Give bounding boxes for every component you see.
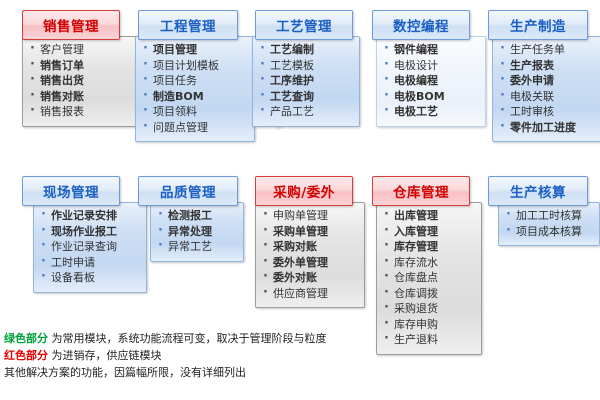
module-card-purchasing-outsourcing: 采购/委外申购单管理采购单管理采购对账委外单管理委外对账供应商管理 (255, 176, 353, 206)
card-body-engineering-management: 项目管理项目计划模板项目任务制造BOM项目领料问题点管理 (135, 36, 255, 142)
feature-item[interactable]: 委外对账 (260, 270, 360, 286)
card-header-production-accounting[interactable]: 生产核算 (488, 176, 588, 206)
card-header-quality-management[interactable]: 品质管理 (138, 176, 238, 206)
feature-item[interactable]: 委外申请 (497, 73, 597, 89)
feature-item[interactable]: 作业记录查询 (38, 239, 142, 255)
feature-list-purchasing-outsourcing: 申购单管理采购单管理采购对账委外单管理委外对账供应商管理 (260, 208, 360, 301)
feature-item[interactable]: 销售对账 (27, 89, 139, 105)
feature-item[interactable]: 异常工艺 (155, 239, 239, 255)
module-card-warehouse-management: 仓库管理出库管理入库管理库存管理库存流水仓库盘点仓库调拨采购退货库存申购生产退料 (372, 176, 470, 206)
card-header-warehouse-management[interactable]: 仓库管理 (372, 176, 470, 206)
feature-item[interactable]: 采购对账 (260, 239, 360, 255)
feature-item[interactable]: 工时申请 (38, 255, 142, 271)
legend-green-text: 为常用模块，系统功能流程可变，取决于管理阶段与粒度 (48, 332, 327, 345)
feature-item[interactable]: 设备看板 (38, 270, 142, 286)
feature-item[interactable]: 项目任务 (140, 73, 250, 89)
card-body-site-management: 作业记录安排现场作业报工作业记录查询工时申请设备看板 (33, 202, 147, 293)
feature-item[interactable]: 检测报工 (155, 208, 239, 224)
feature-item[interactable]: 销售出货 (27, 73, 139, 89)
feature-item[interactable]: 客户管理 (27, 42, 139, 58)
feature-item[interactable]: 仓库盘点 (381, 270, 477, 286)
feature-item[interactable]: 生产退料 (381, 332, 477, 348)
module-map-canvas: 易云软件传媒 销售管理客户管理销售订单销售出货销售对账销售报表工程管理项目管理项… (0, 0, 600, 400)
feature-item[interactable]: 工艺模板 (257, 58, 355, 74)
module-card-quality-management: 品质管理检测报工异常处理异常工艺 (138, 176, 238, 206)
feature-item[interactable]: 销售订单 (27, 58, 139, 74)
legend-green-tag: 绿色部分 (4, 332, 48, 345)
card-header-production-manufacturing[interactable]: 生产制造 (488, 10, 588, 40)
feature-item[interactable]: 加工工时核算 (503, 208, 595, 224)
feature-item[interactable]: 生产报表 (497, 58, 597, 74)
card-body-warehouse-management: 出库管理入库管理库存管理库存流水仓库盘点仓库调拨采购退货库存申购生产退料 (376, 202, 482, 355)
legend-red-tag: 红色部分 (4, 349, 48, 362)
feature-item[interactable]: 供应商管理 (260, 286, 360, 302)
feature-item[interactable]: 电极编程 (381, 73, 481, 89)
module-card-site-management: 现场管理作业记录安排现场作业报工作业记录查询工时申请设备看板 (22, 176, 120, 206)
feature-list-engineering-management: 项目管理项目计划模板项目任务制造BOM项目领料问题点管理 (140, 42, 250, 135)
feature-item[interactable]: 委外单管理 (260, 255, 360, 271)
feature-item[interactable]: 电极关联 (497, 89, 597, 105)
card-header-site-management[interactable]: 现场管理 (22, 176, 120, 206)
feature-item[interactable]: 仓库调拨 (381, 286, 477, 302)
feature-item[interactable]: 异常处理 (155, 224, 239, 240)
card-header-cnc-programming[interactable]: 数控编程 (372, 10, 470, 40)
feature-item[interactable]: 现场作业报工 (38, 224, 142, 240)
feature-item[interactable]: 电极BOM (381, 89, 481, 105)
legend-other-text: 其他解决方案的功能，因篇幅所限，没有详细列出 (4, 366, 246, 379)
feature-item[interactable]: 钢件编程 (381, 42, 481, 58)
card-body-production-accounting: 加工工时核算项目成本核算 (498, 202, 600, 246)
legend-line-other: 其他解决方案的功能，因篇幅所限，没有详细列出 (4, 364, 327, 381)
feature-list-cnc-programming: 钢件编程电极设计电极编程电极BOM电极工艺 (381, 42, 481, 120)
module-card-production-manufacturing: 生产制造生产任务单生产报表委外申请电极关联工时审核零件加工进度 (488, 10, 588, 40)
feature-item[interactable]: 工艺查询 (257, 89, 355, 105)
card-header-process-management[interactable]: 工艺管理 (255, 10, 353, 40)
card-body-quality-management: 检测报工异常处理异常工艺 (150, 202, 244, 262)
module-card-engineering-management: 工程管理项目管理项目计划模板项目任务制造BOM项目领料问题点管理 (138, 10, 238, 40)
feature-list-production-manufacturing: 生产任务单生产报表委外申请电极关联工时审核零件加工进度 (497, 42, 597, 135)
feature-item[interactable]: 工序维护 (257, 73, 355, 89)
feature-list-site-management: 作业记录安排现场作业报工作业记录查询工时申请设备看板 (38, 208, 142, 286)
card-header-sales-management[interactable]: 销售管理 (22, 10, 120, 40)
feature-item[interactable]: 问题点管理 (140, 120, 250, 136)
card-body-sales-management: 客户管理销售订单销售出货销售对账销售报表 (22, 36, 144, 127)
legend-line-red: 红色部分 为进销存，供应链模块 (4, 347, 327, 364)
card-body-process-management: 工艺编制工艺模板工序维护工艺查询产品工艺 (252, 36, 360, 127)
feature-item[interactable]: 入库管理 (381, 224, 477, 240)
feature-list-process-management: 工艺编制工艺模板工序维护工艺查询产品工艺 (257, 42, 355, 120)
card-header-purchasing-outsourcing[interactable]: 采购/委外 (255, 176, 353, 206)
feature-item[interactable]: 申购单管理 (260, 208, 360, 224)
card-header-engineering-management[interactable]: 工程管理 (138, 10, 238, 40)
card-body-production-manufacturing: 生产任务单生产报表委外申请电极关联工时审核零件加工进度 (492, 36, 600, 142)
feature-item[interactable]: 项目计划模板 (140, 58, 250, 74)
legend-red-text: 为进销存，供应链模块 (48, 349, 162, 362)
feature-item[interactable]: 零件加工进度 (497, 120, 597, 136)
legend-line-green: 绿色部分 为常用模块，系统功能流程可变，取决于管理阶段与粒度 (4, 330, 327, 347)
module-card-cnc-programming: 数控编程钢件编程电极设计电极编程电极BOM电极工艺 (372, 10, 470, 40)
feature-list-warehouse-management: 出库管理入库管理库存管理库存流水仓库盘点仓库调拨采购退货库存申购生产退料 (381, 208, 477, 348)
feature-item[interactable]: 销售报表 (27, 104, 139, 120)
feature-item[interactable]: 制造BOM (140, 89, 250, 105)
feature-item[interactable]: 产品工艺 (257, 104, 355, 120)
feature-item[interactable]: 项目成本核算 (503, 224, 595, 240)
feature-item[interactable]: 项目管理 (140, 42, 250, 58)
feature-item[interactable]: 项目领料 (140, 104, 250, 120)
legend-block: 绿色部分 为常用模块，系统功能流程可变，取决于管理阶段与粒度 红色部分 为进销存… (4, 330, 327, 381)
feature-list-production-accounting: 加工工时核算项目成本核算 (503, 208, 595, 239)
module-card-process-management: 工艺管理工艺编制工艺模板工序维护工艺查询产品工艺 (255, 10, 353, 40)
feature-item[interactable]: 库存申购 (381, 317, 477, 333)
feature-item[interactable]: 电极设计 (381, 58, 481, 74)
feature-item[interactable]: 库存流水 (381, 255, 477, 271)
feature-item[interactable]: 采购单管理 (260, 224, 360, 240)
feature-item[interactable]: 出库管理 (381, 208, 477, 224)
feature-list-quality-management: 检测报工异常处理异常工艺 (155, 208, 239, 255)
feature-item[interactable]: 电极工艺 (381, 104, 481, 120)
feature-item[interactable]: 采购退货 (381, 301, 477, 317)
card-body-cnc-programming: 钢件编程电极设计电极编程电极BOM电极工艺 (376, 36, 486, 127)
module-card-sales-management: 销售管理客户管理销售订单销售出货销售对账销售报表 (22, 10, 120, 40)
feature-item[interactable]: 作业记录安排 (38, 208, 142, 224)
card-body-purchasing-outsourcing: 申购单管理采购单管理采购对账委外单管理委外对账供应商管理 (255, 202, 365, 308)
module-card-production-accounting: 生产核算加工工时核算项目成本核算 (488, 176, 588, 206)
feature-item[interactable]: 库存管理 (381, 239, 477, 255)
feature-item[interactable]: 工时审核 (497, 104, 597, 120)
feature-item[interactable]: 工艺编制 (257, 42, 355, 58)
feature-list-sales-management: 客户管理销售订单销售出货销售对账销售报表 (27, 42, 139, 120)
feature-item[interactable]: 生产任务单 (497, 42, 597, 58)
